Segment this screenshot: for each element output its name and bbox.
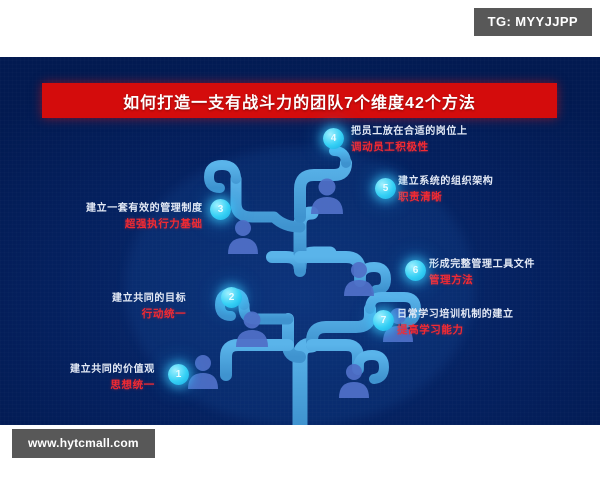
node-label-3-line1: 建立一套有效的管理制度 [86,203,203,214]
node-badge-5[interactable]: 5 [375,178,396,199]
node-badge-6[interactable]: 6 [405,260,426,281]
node-label-5: 建立系统的组织架构 职责清晰 [398,169,493,206]
top-watermark-badge: TG: MYYJJPP [474,8,592,36]
bottom-watermark-badge: www.hytcmall.com [12,429,155,458]
node-badge-7-number: 7 [381,315,387,326]
node-badge-3-number: 3 [218,204,224,215]
node-badge-4[interactable]: 4 [323,128,344,149]
node-label-5-line2: 职责清晰 [398,191,493,205]
node-label-1: 建立共同的价值观 思想统一 [70,357,155,394]
node-badge-2-number: 2 [229,292,235,303]
node-label-3-line2: 超强执行力基础 [86,218,203,232]
node-badge-2[interactable]: 2 [221,287,242,308]
node-label-2-line1: 建立共同的目标 [112,293,186,304]
node-label-4-line2: 调动员工积极性 [351,141,468,155]
node-badge-5-number: 5 [383,183,389,194]
node-label-4: 把员工放在合适的岗位上 调动员工积极性 [351,119,468,156]
node-label-1-line2: 思想统一 [70,379,155,393]
node-label-6: 形成完整管理工具文件 管理方法 [429,252,535,289]
page-title: 如何打造一支有战斗力的团队7个维度42个方法 [123,89,476,113]
node-label-4-line1: 把员工放在合适的岗位上 [351,126,468,137]
node-label-7-line2: 提高学习能力 [397,324,514,338]
node-badge-3[interactable]: 3 [210,199,231,220]
slide-canvas: 如何打造一支有战斗力的团队7个维度42个方法 建立一套有效的管理制度 超强执行力… [0,57,600,425]
node-badge-4-number: 4 [331,133,337,144]
node-badge-6-number: 6 [413,265,419,276]
node-label-6-line1: 形成完整管理工具文件 [429,259,535,270]
node-label-2: 建立共同的目标 行动统一 [112,286,186,323]
node-badge-7[interactable]: 7 [373,310,394,331]
node-label-1-line1: 建立共同的价值观 [70,364,155,375]
node-label-3: 建立一套有效的管理制度 超强执行力基础 [86,196,203,233]
node-badge-1[interactable]: 1 [168,364,189,385]
node-label-7: 日常学习培训机制的建立 提高学习能力 [397,302,514,339]
node-label-5-line1: 建立系统的组织架构 [398,176,493,187]
node-label-6-line2: 管理方法 [429,274,535,288]
node-label-2-line2: 行动统一 [112,308,186,322]
node-badge-1-number: 1 [176,369,182,380]
node-label-7-line1: 日常学习培训机制的建立 [397,309,514,320]
slide-title-banner: 如何打造一支有战斗力的团队7个维度42个方法 [42,83,557,118]
